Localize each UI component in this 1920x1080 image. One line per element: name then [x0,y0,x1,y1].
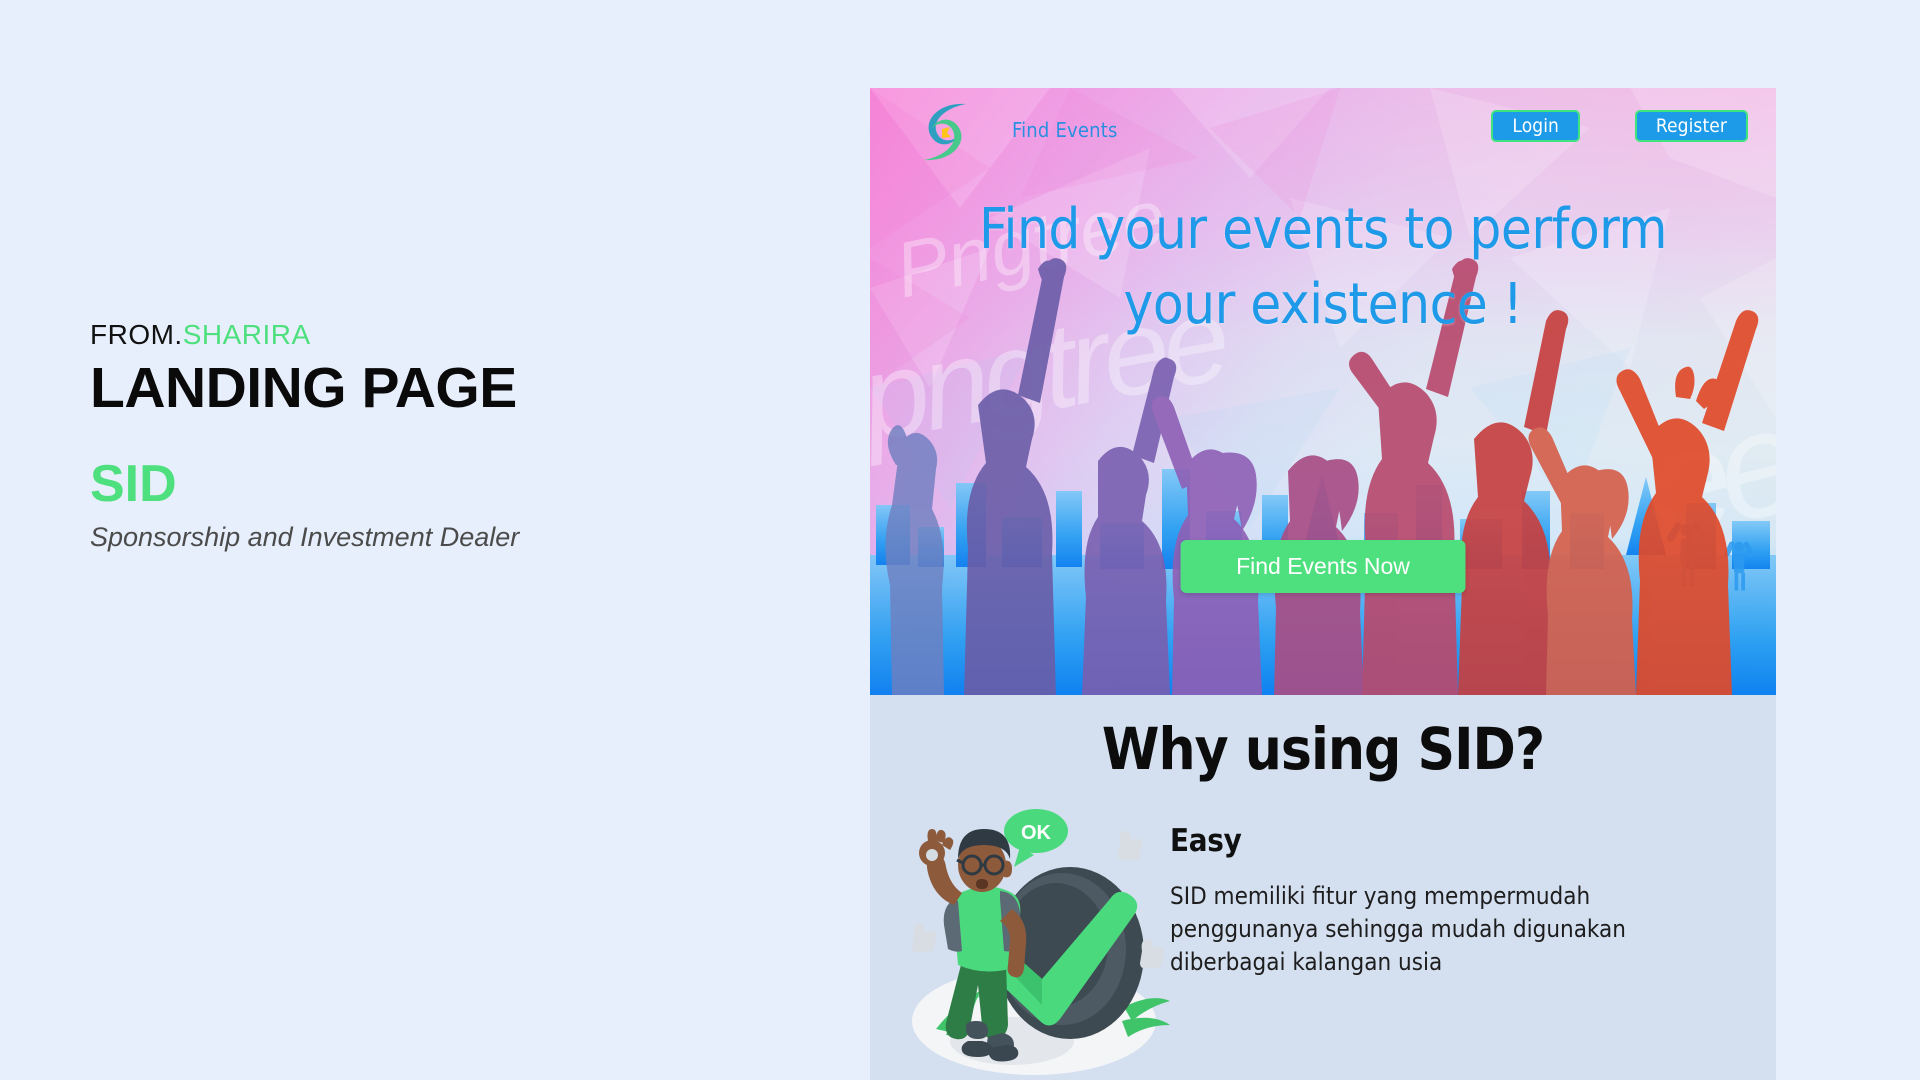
feature-body: SID memiliki fitur yang mempermudah peng… [1170,880,1640,979]
feature-text-block: Easy SID memiliki fitur yang mempermudah… [1170,823,1752,979]
sid-s-logo-icon[interactable] [914,96,976,168]
nav-link-find-events[interactable]: Find Events [1012,118,1118,142]
register-button[interactable]: Register [1635,110,1748,142]
product-acronym: SID [90,456,790,513]
feature-row-easy: OK [870,797,1776,1077]
hero-headline-line-2: your existence ! [1124,272,1523,337]
from-line: FROM.SHARIRA [90,320,790,351]
person-ok-gesture-with-green-checkmark-illustration: OK [884,793,1174,1080]
speech-bubble-ok-text: OK [1021,822,1052,844]
presentation-text-block: FROM.SHARIRA LANDING PAGE SID Sponsorshi… [90,320,790,555]
site-navbar: Find Events Login Register [870,88,1776,172]
hero-headline-line-1: Find your events to perform [979,197,1667,262]
from-prefix: FROM. [90,319,183,350]
find-events-now-button[interactable]: Find Events Now [1181,540,1466,593]
login-button[interactable]: Login [1491,110,1580,142]
landing-page-mockup: Pngtree pngtree ee Find Events Login Reg… [870,88,1776,1080]
hero-headline: Find your events to perform your existen… [870,192,1776,342]
page-title: LANDING PAGE [90,355,790,422]
product-subtitle: Sponsorship and Investment Dealer [90,520,790,555]
feature-heading: Easy [1170,823,1752,859]
from-brand: SHARIRA [183,319,311,350]
hero-section: Pngtree pngtree ee Find Events Login Reg… [870,88,1776,695]
why-using-sid-section: Why using SID? [870,695,1776,1080]
why-section-title: Why using SID? [870,695,1776,783]
